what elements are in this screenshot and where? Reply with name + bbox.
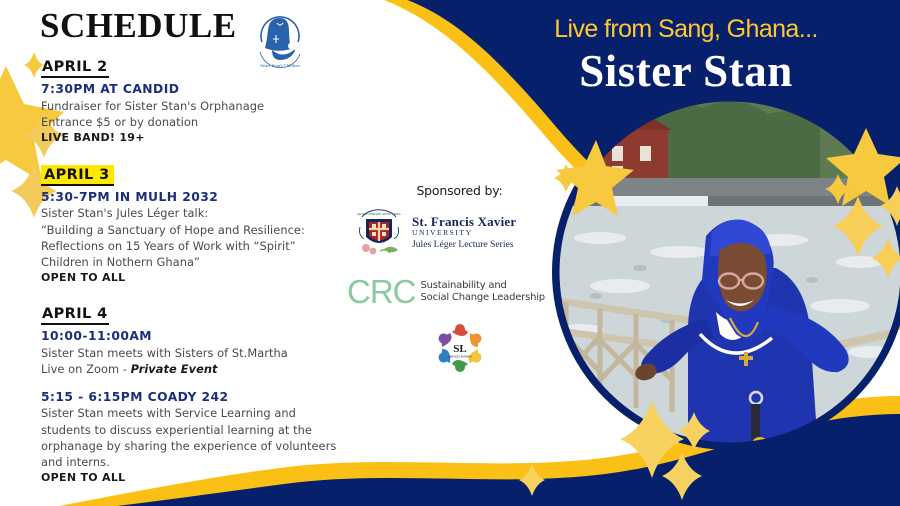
- event-detail: Reflections on 15 Years of Work with “Sp…: [41, 238, 341, 254]
- stfx-crest-icon: QUAECUMQUE SUNT VERA: [352, 207, 406, 259]
- event-detail: and interns.: [41, 454, 341, 470]
- sponsors-heading: Sponsored by:: [352, 183, 567, 198]
- svg-text:QUAECUMQUE SUNT VERA: QUAECUMQUE SUNT VERA: [357, 212, 401, 216]
- event-entry: 10:00-11:00AM Sister Stan meets with Sis…: [41, 328, 341, 377]
- stfx-lecture-series: Jules Léger Lecture Series: [412, 240, 516, 250]
- event-detail-emphasis: Private Event: [131, 362, 218, 376]
- page-title: SCHEDULE: [40, 8, 237, 43]
- event-detail: “Building a Sanctuary of Hope and Resili…: [41, 222, 341, 238]
- event-detail: Live on Zoom - Private Event: [41, 361, 341, 377]
- sl-caption: SERVICE LEARNING: [448, 356, 471, 359]
- crc-mark: CRC: [347, 275, 416, 308]
- crc-tagline: Sustainability and Social Change Leaders…: [421, 280, 545, 302]
- sl-mark: SL: [453, 343, 466, 355]
- event-time: 5:15 - 6:15PM COADY 242: [41, 389, 341, 406]
- schedule-day-april-4: APRIL 4 10:00-11:00AM Sister Stan meets …: [41, 305, 341, 486]
- event-entry: 7:30PM AT CANDID Fundraiser for Sister S…: [41, 81, 341, 146]
- poster-canvas: SCHEDULE Sister Stan's Children APRIL 2 …: [0, 0, 900, 506]
- event-detail: Sister Stan meets with Sisters of St.Mar…: [41, 345, 341, 361]
- spacer: [41, 149, 341, 165]
- event-detail: Entrance $5 or by donation: [41, 114, 341, 130]
- event-detail-plain: Live on Zoom -: [41, 362, 131, 376]
- event-detail: Sister Stan meets with Service Learning …: [41, 405, 341, 421]
- spacer: [41, 289, 341, 305]
- sponsor-logo-stfx: QUAECUMQUE SUNT VERA St. Francis Xavier …: [352, 207, 567, 259]
- event-time: 5:30-7PM IN MULH 2032: [41, 189, 341, 206]
- event-detail: OPEN TO ALL: [41, 470, 341, 486]
- event-detail: Children in Nothern Ghana”: [41, 254, 341, 270]
- event-detail: orphanage by sharing the experience of v…: [41, 438, 341, 454]
- sponsor-logo-service-learning: SL SERVICE LEARNING: [352, 322, 567, 374]
- event-detail: students to discuss experiential learnin…: [41, 422, 341, 438]
- stfx-name: St. Francis Xavier: [412, 215, 516, 229]
- event-detail: OPEN TO ALL: [41, 270, 341, 286]
- sponsor-logo-crc: CRC Sustainability and Social Change Lea…: [347, 275, 567, 308]
- day-heading-highlighted: APRIL 3: [41, 165, 114, 186]
- event-detail: LIVE BAND! 19+: [41, 130, 341, 146]
- schedule-column: SCHEDULE Sister Stan's Children APRIL 2 …: [0, 0, 345, 506]
- event-detail: Sister Stan's Jules Léger talk:: [41, 205, 341, 221]
- event-detail: Fundraiser for Sister Stan's Orphanage: [41, 98, 341, 114]
- event-entry: 5:15 - 6:15PM COADY 242 Sister Stan meet…: [41, 389, 341, 486]
- hero-title: Sister Stan: [496, 45, 876, 97]
- schedule-day-april-2: APRIL 2 7:30PM AT CANDID Fundraiser for …: [41, 58, 341, 146]
- schedule-list: APRIL 2 7:30PM AT CANDID Fundraiser for …: [41, 58, 341, 489]
- event-entry: 5:30-7PM IN MULH 2032 Sister Stan's Jule…: [41, 189, 341, 286]
- service-learning-icon: SL SERVICE LEARNING: [431, 322, 489, 374]
- spacer: [41, 377, 341, 386]
- hero-eyebrow: Live from Sang, Ghana...: [496, 15, 876, 44]
- day-heading: APRIL 2: [41, 58, 109, 78]
- schedule-day-april-3: APRIL 3 5:30-7PM IN MULH 2032 Sister Sta…: [41, 165, 341, 286]
- event-time: 7:30PM AT CANDID: [41, 81, 341, 98]
- crc-tagline-line1: Sustainability and: [421, 280, 545, 291]
- stfx-wordmark: St. Francis Xavier UNIVERSITY Jules Lége…: [412, 215, 516, 251]
- sponsors-section: Sponsored by: QUAECUMQUE SUNT VERA: [352, 183, 567, 374]
- crc-tagline-line2: Social Change Leadership: [421, 292, 545, 303]
- event-time: 10:00-11:00AM: [41, 328, 341, 345]
- stfx-university: UNIVERSITY: [412, 229, 516, 237]
- day-heading: APRIL 4: [41, 305, 109, 325]
